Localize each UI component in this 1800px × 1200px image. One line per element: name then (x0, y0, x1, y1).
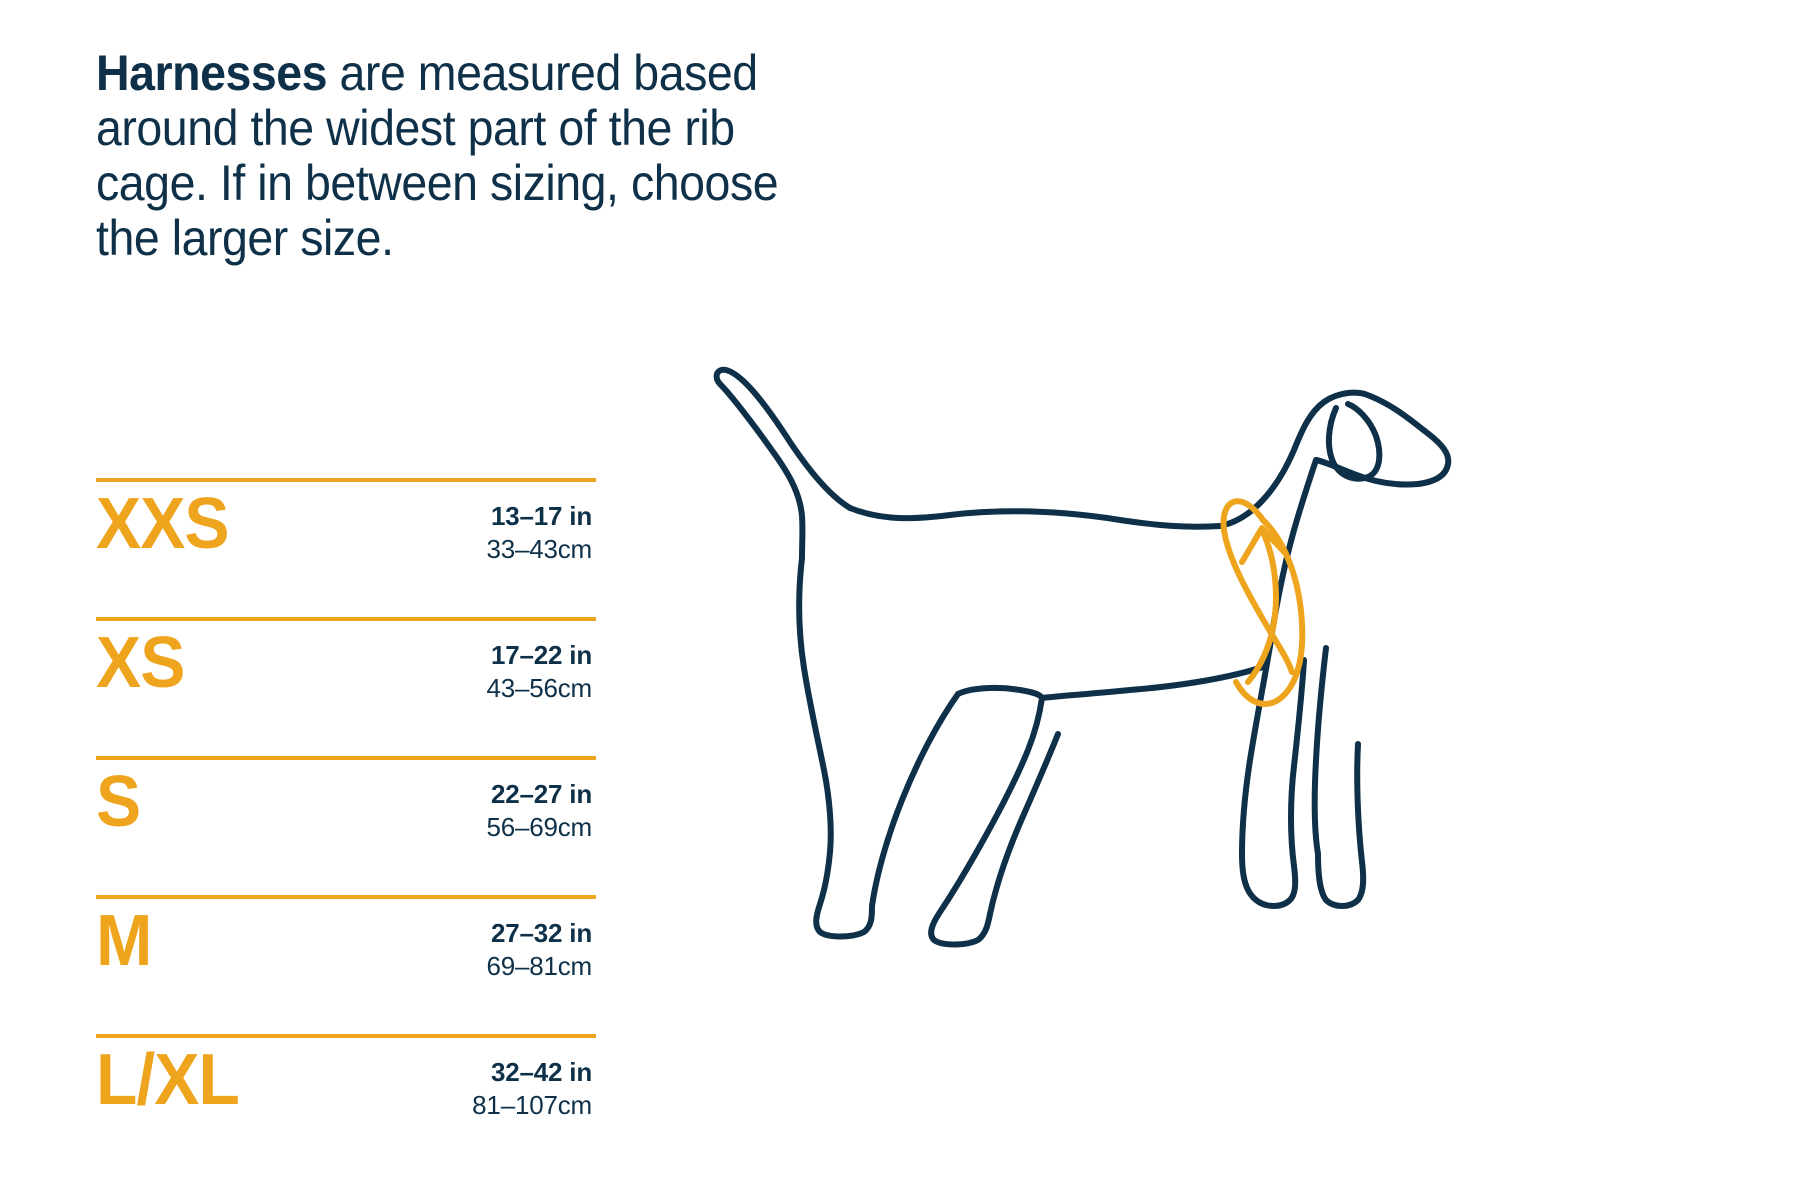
dog-illustration (690, 330, 1480, 950)
measurement-imperial: 27–32 in (486, 917, 592, 950)
measurement-imperial: 32–42 in (472, 1056, 592, 1089)
measurement-metric: 43–56cm (486, 672, 592, 705)
measurement-imperial: 13–17 in (486, 500, 592, 533)
measurement-metric: 81–107cm (472, 1089, 592, 1122)
measurement-metric: 56–69cm (486, 811, 592, 844)
size-label: S (96, 766, 140, 838)
size-row-xs[interactable]: XS 17–22 in 43–56cm (96, 617, 596, 756)
measurement-imperial: 22–27 in (486, 778, 592, 811)
intro-paragraph: Harnesses are measured based around the … (96, 46, 831, 266)
size-label: L/XL (96, 1044, 239, 1116)
measurement-imperial: 17–22 in (486, 639, 592, 672)
size-row-m[interactable]: M 27–32 in 69–81cm (96, 895, 596, 1034)
intro-lead-word: Harnesses (96, 45, 327, 101)
size-measurements: 13–17 in 33–43cm (486, 500, 592, 565)
measurement-metric: 69–81cm (486, 950, 592, 983)
size-measurements: 32–42 in 81–107cm (472, 1056, 592, 1121)
size-row-xxs[interactable]: XXS 13–17 in 33–43cm (96, 478, 596, 617)
size-label: XS (96, 627, 184, 699)
size-label: XXS (96, 488, 229, 560)
size-label: M (96, 905, 151, 977)
size-guide-page: Harnesses are measured based around the … (0, 0, 1800, 1200)
size-row-s[interactable]: S 22–27 in 56–69cm (96, 756, 596, 895)
size-measurements: 22–27 in 56–69cm (486, 778, 592, 843)
size-measurements: 17–22 in 43–56cm (486, 639, 592, 704)
measurement-metric: 33–43cm (486, 533, 592, 566)
size-chart-table: XXS 13–17 in 33–43cm XS 17–22 in 43–56cm… (96, 478, 596, 1184)
size-row-l-xl[interactable]: L/XL 32–42 in 81–107cm (96, 1034, 596, 1184)
dog-side-profile-outline (717, 370, 1449, 945)
size-measurements: 27–32 in 69–81cm (486, 917, 592, 982)
